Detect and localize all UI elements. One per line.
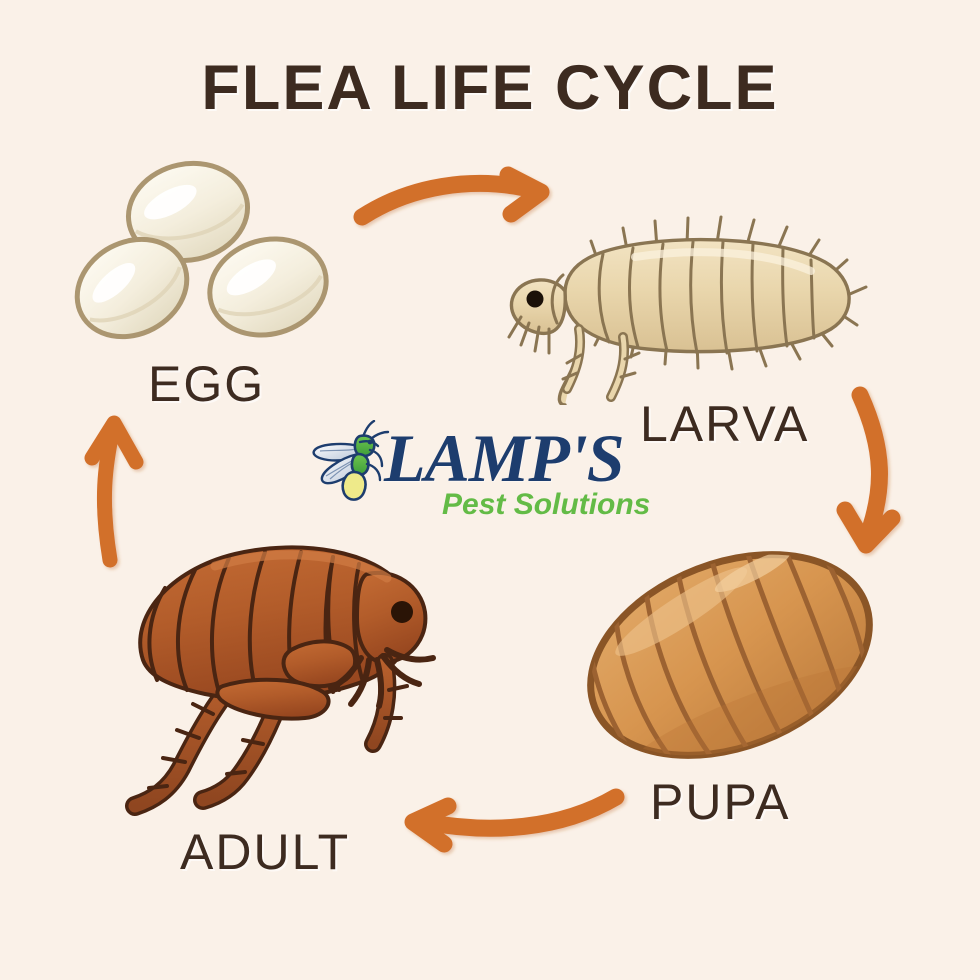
logo-tagline-text: Pest Solutions (442, 488, 650, 522)
stage-label-larva: LARVA (640, 395, 809, 453)
flea-pupa-icon (565, 545, 895, 765)
stage-label-egg: EGG (148, 355, 265, 413)
company-logo[interactable]: LAMP'S Pest Solutions (312, 418, 652, 526)
stage-label-adult: ADULT (180, 823, 350, 881)
logo-brand-text: LAMP'S (384, 424, 624, 492)
adult-flea-icon (95, 500, 465, 830)
arrow-right-down (845, 395, 892, 545)
flea-life-cycle-poster: FLEA LIFE CYCLE (0, 0, 980, 980)
flea-eggs-icon (70, 155, 360, 355)
stage-label-pupa: PUPA (650, 773, 790, 831)
firefly-icon (312, 420, 390, 506)
flea-larva-icon (495, 205, 885, 405)
